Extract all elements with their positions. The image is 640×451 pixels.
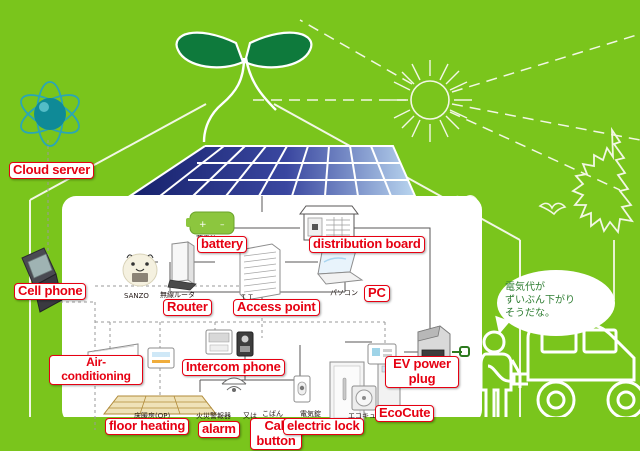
call-button-icon — [294, 376, 310, 402]
label-ev-power-plug-l1: EV power — [393, 356, 451, 371]
speech-bubble-text: 電気代が ずいぶん下がり そうだな。 — [505, 281, 609, 320]
battery-icon: + – — [186, 212, 234, 234]
cell-phone-icon — [22, 248, 62, 312]
label-battery[interactable]: battery — [197, 236, 247, 253]
speech-line-1: 電気代が — [505, 281, 609, 294]
sanzo-robot-icon — [123, 254, 157, 286]
label-alarm[interactable]: alarm — [198, 421, 240, 438]
caption-pc-jp: パソコン — [330, 288, 358, 298]
label-pc[interactable]: PC — [364, 285, 390, 302]
access-point-icon — [240, 244, 280, 300]
label-air-conditioning-l2: conditioning — [61, 369, 131, 383]
speech-line-2: ずいぶん下がり — [505, 294, 609, 307]
label-ev-power-plug[interactable]: EV power plug — [385, 356, 459, 388]
diagram-canvas: + – — [0, 0, 640, 451]
caption-sanzo: SANZO — [124, 292, 149, 300]
label-cloud-server[interactable]: Cloud server — [9, 162, 94, 179]
svg-text:+: + — [199, 220, 207, 230]
caption-alarm-jp: 火災警報器 — [196, 411, 231, 421]
svg-text:–: – — [220, 220, 225, 230]
intercom-monitor-icon — [206, 330, 232, 354]
label-floor-heating[interactable]: floor heating — [105, 418, 189, 435]
distribution-board-icon — [300, 206, 358, 240]
speech-line-3: そうだな。 — [505, 307, 609, 320]
label-access-point[interactable]: Access point — [233, 299, 320, 316]
label-ecocute[interactable]: EcoCute — [375, 405, 434, 422]
label-cell-phone[interactable]: Cell phone — [14, 283, 86, 300]
label-air-conditioning-l1: Air- — [86, 355, 106, 369]
pc-laptop-icon — [318, 250, 362, 284]
intercom-door-unit-icon — [237, 332, 253, 356]
control-panel-icon — [148, 348, 174, 368]
label-router[interactable]: Router — [163, 299, 212, 316]
label-air-conditioning[interactable]: Air- conditioning — [49, 355, 143, 385]
label-electric-lock[interactable]: electric lock — [283, 418, 364, 435]
label-call-button-l2: button — [256, 433, 295, 448]
label-distribution-board[interactable]: distribution board — [309, 236, 425, 253]
label-ev-power-plug-l2: plug — [409, 371, 436, 386]
router-icon — [168, 242, 196, 290]
label-intercom-phone[interactable]: Intercom phone — [182, 359, 285, 376]
